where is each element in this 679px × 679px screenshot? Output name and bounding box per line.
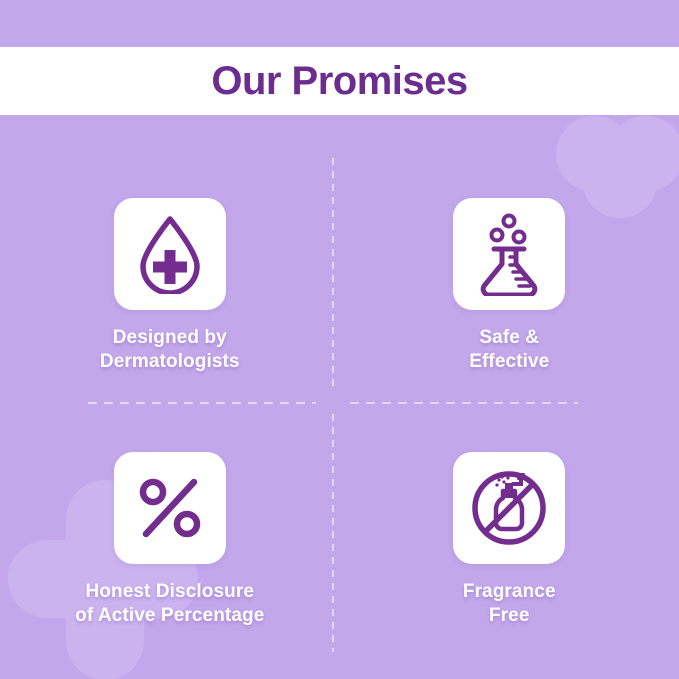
promise-item-honest-disclosure: Honest Disclosure of Active Percentage (0, 410, 340, 670)
icon-card-safe-and-effective (453, 198, 565, 310)
promise-label: Fragrance Free (463, 580, 556, 629)
promise-item-safe-and-effective: Safe & Effective (340, 150, 679, 410)
lab-flask-icon (472, 212, 546, 296)
header-banner: Our Promises (0, 47, 679, 115)
percent-icon (136, 477, 204, 539)
page-title: Our Promises (211, 61, 467, 101)
promises-banner: Our Promises Designed by Dermatologists (0, 0, 679, 679)
promise-item-fragrance-free: Fragrance Free (340, 410, 679, 670)
no-fragrance-bottle-icon (468, 467, 550, 549)
icon-card-designed-by-dermatologists (114, 198, 226, 310)
promise-label: Safe & Effective (469, 326, 549, 375)
promise-item-designed-by-dermatologists: Designed by Dermatologists (0, 150, 340, 410)
icon-card-fragrance-free (453, 452, 565, 564)
promise-grid: Designed by Dermatologists (0, 150, 679, 670)
droplet-medical-cross-icon (133, 214, 207, 294)
promise-label: Honest Disclosure of Active Percentage (75, 580, 264, 629)
icon-card-honest-disclosure (114, 452, 226, 564)
promise-label: Designed by Dermatologists (100, 326, 240, 375)
